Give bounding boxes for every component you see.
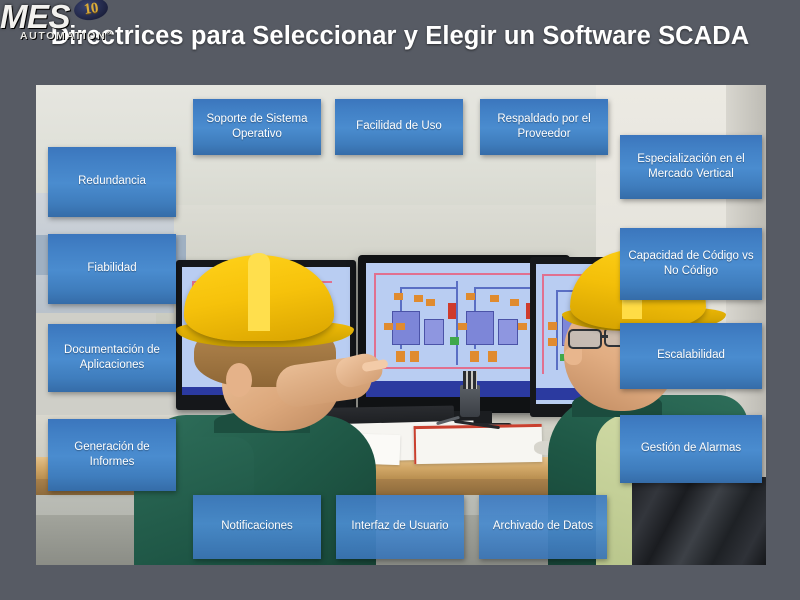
callout-label: Interfaz de Usuario [351,519,448,534]
callout-label: Notificaciones [221,519,293,534]
callout-label: Fiabilidad [87,261,136,276]
logo-backdrop [632,477,766,565]
pens-in-holder [463,371,477,389]
callout-facilidad-de-uso[interactable]: Facilidad de Uso [335,99,463,155]
worker-left-ear [226,363,252,397]
callout-label: Soporte de Sistema Operativo [200,112,314,142]
callout-notificaciones[interactable]: Notificaciones [193,495,321,559]
clipboard [414,424,543,464]
callout-respaldado-por-el-proveedor[interactable]: Respaldado por el Proveedor [480,99,608,155]
callout-label: Escalabilidad [657,348,725,363]
callout-gestion-de-alarmas[interactable]: Gestión de Alarmas [620,415,762,483]
callout-label: Especialización en el Mercado Vertical [627,152,755,182]
worker-right-nose [564,347,582,365]
callout-interfaz-de-usuario[interactable]: Interfaz de Usuario [336,495,464,559]
callout-label: Facilidad de Uso [356,119,442,134]
anniversary-badge-icon: 10 [73,0,110,22]
callout-soporte-sistema-operativo[interactable]: Soporte de Sistema Operativo [193,99,321,155]
callout-redundancia[interactable]: Redundancia [48,147,176,217]
callout-escalabilidad[interactable]: Escalabilidad [620,323,762,389]
callout-label: Archivado de Datos [493,519,593,534]
callout-label: Documentación de Aplicaciones [55,343,169,373]
worker-right-glasses-left-lens [568,329,602,349]
worker-left-helmet-ridge [248,253,270,331]
callout-documentacion-de-aplicaciones[interactable]: Documentación de Aplicaciones [48,324,176,392]
badge-number: 10 [83,0,99,18]
callout-label: Generación de Informes [55,440,169,470]
callout-fiabilidad[interactable]: Fiabilidad [48,234,176,304]
callout-label: Gestión de Alarmas [641,441,741,456]
callout-label: Respaldado por el Proveedor [487,112,601,142]
callout-especializacion-mercado-vertical[interactable]: Especialización en el Mercado Vertical [620,135,762,199]
callout-archivado-de-datos[interactable]: Archivado de Datos [479,495,607,559]
callout-capacidad-codigo-vs-no-codigo[interactable]: Capacidad de Código vs No Código [620,228,762,300]
callout-generacion-de-informes[interactable]: Generación de Informes [48,419,176,491]
callout-label: Redundancia [78,174,146,189]
callout-label: Capacidad de Código vs No Código [627,249,755,279]
worker-right-glasses-bridge [600,335,608,338]
page-title: Directrices para Seleccionar y Elegir un… [0,22,800,51]
pen-holder [460,385,480,417]
